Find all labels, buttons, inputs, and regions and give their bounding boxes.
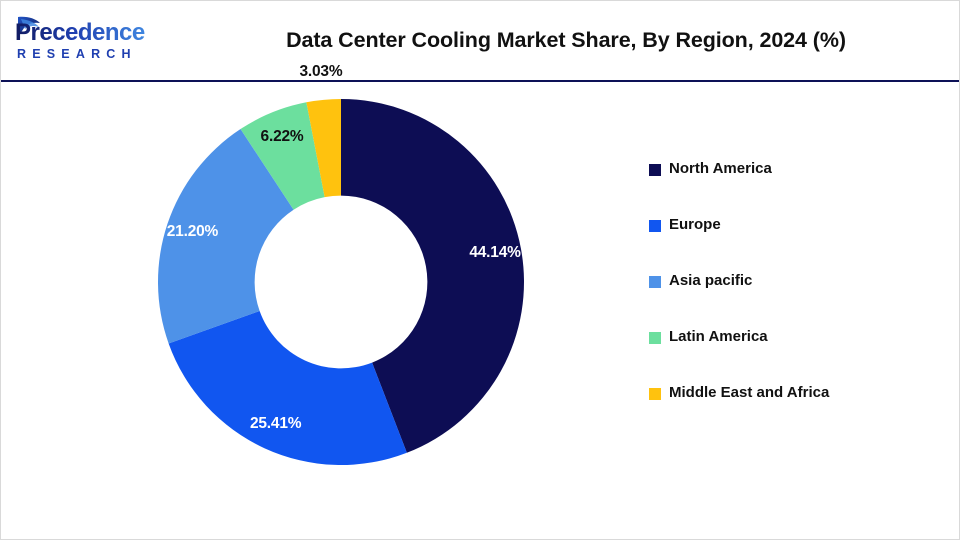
donut-chart-svg [151,92,531,472]
slice-data-label: 44.14% [469,244,520,262]
legend-item[interactable]: Latin America [649,328,939,384]
legend-swatch-europe [649,220,661,232]
legend-swatch-latin-america [649,332,661,344]
chart-page: Precedence RESEARCH Data Center Cooling … [0,0,960,540]
slice-data-label: 3.03% [299,63,342,81]
legend-swatch-north-america [649,164,661,176]
slice-data-label: 21.20% [167,223,218,241]
legend-label-north-america: North America [669,158,849,179]
plot-area: 44.14%25.41%21.20%6.22%3.03% North Ameri… [1,82,959,539]
page-title: Data Center Cooling Market Share, By Reg… [181,1,951,80]
legend-label-asia-pacific: Asia pacific [669,270,849,291]
slice-data-label: 6.22% [261,128,304,146]
donut-slice[interactable] [169,311,407,465]
legend-swatch-asia-pacific [649,276,661,288]
header-bar: Precedence RESEARCH Data Center Cooling … [1,1,959,82]
legend: North America Europe Asia pacific Latin … [649,160,939,440]
svg-text:Precedence: Precedence [15,19,145,46]
precedence-research-logo: Precedence RESEARCH [11,14,171,66]
legend-item[interactable]: Asia pacific [649,272,939,328]
legend-swatch-middle-east-and-africa [649,388,661,400]
legend-label-europe: Europe [669,214,849,235]
donut-chart: 44.14%25.41%21.20%6.22%3.03% [151,92,531,472]
legend-item[interactable]: Europe [649,216,939,272]
logo-subtitle: RESEARCH [17,47,137,61]
legend-label-middle-east-and-africa: Middle East and Africa [669,382,849,403]
slice-data-label: 25.41% [250,415,301,433]
donut-slice-group [158,99,524,465]
legend-item[interactable]: Middle East and Africa [649,384,939,440]
legend-item[interactable]: North America [649,160,939,216]
legend-label-latin-america: Latin America [669,326,849,347]
logo-wordmark-icon: Precedence [11,14,171,48]
